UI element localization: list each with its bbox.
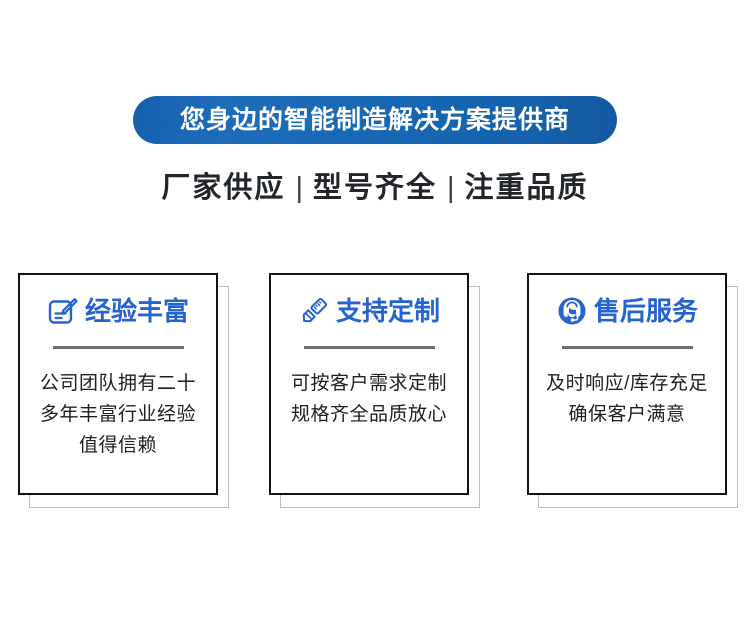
headline-banner: 您身边的智能制造解决方案提供商 <box>0 96 750 144</box>
subtitle-line: 厂家供应|型号齐全|注重品质 <box>0 164 750 206</box>
feature-cards-row: 经验丰富 公司团队拥有二十 多年丰富行业经验 值得信赖 <box>18 273 732 513</box>
card-divider <box>562 346 693 349</box>
card-title: 支持定制 <box>336 298 440 324</box>
banner-pill: 您身边的智能制造解决方案提供商 <box>133 96 617 144</box>
feature-card[interactable]: 支持定制 可按客户需求定制 规格齐全品质放心 <box>269 273 469 495</box>
card-body: 可按客户需求定制 规格齐全品质放心 <box>275 368 463 430</box>
feature-card-slot: 经验丰富 公司团队拥有二十 多年丰富行业经验 值得信赖 <box>18 273 218 495</box>
card-body: 及时响应/库存充足 确保客户满意 <box>533 368 721 430</box>
card-header: 支持定制 <box>298 294 440 328</box>
subtitle-separator-1: | <box>285 172 313 204</box>
feature-card[interactable]: 经验丰富 公司团队拥有二十 多年丰富行业经验 值得信赖 <box>18 273 218 495</box>
subtitle-separator-2: | <box>437 172 465 204</box>
card-header: 售后服务 <box>556 294 698 328</box>
card-body-line: 多年丰富行业经验 <box>24 399 212 430</box>
card-body-line: 及时响应/库存充足 <box>533 368 721 399</box>
feature-card[interactable]: 售后服务 及时响应/库存充足 确保客户满意 <box>527 273 727 495</box>
ruler-pencil-icon <box>298 295 330 327</box>
card-divider <box>53 346 184 349</box>
headset-support-icon <box>556 295 588 327</box>
card-title: 售后服务 <box>594 298 698 324</box>
card-title: 经验丰富 <box>85 298 189 324</box>
subtitle-part-2: 型号齐全 <box>313 172 437 204</box>
card-body-line: 可按客户需求定制 <box>275 368 463 399</box>
subtitle-part-1: 厂家供应 <box>161 172 285 204</box>
card-body-line: 值得信赖 <box>24 430 212 461</box>
card-header: 经验丰富 <box>47 294 189 328</box>
card-body-line: 确保客户满意 <box>533 399 721 430</box>
banner-text: 您身边的智能制造解决方案提供商 <box>180 108 570 133</box>
feature-card-slot: 支持定制 可按客户需求定制 规格齐全品质放心 <box>269 273 469 495</box>
subtitle-part-3: 注重品质 <box>465 172 589 204</box>
edit-document-icon <box>47 295 79 327</box>
card-body-line: 规格齐全品质放心 <box>275 399 463 430</box>
card-body-line: 公司团队拥有二十 <box>24 368 212 399</box>
card-body: 公司团队拥有二十 多年丰富行业经验 值得信赖 <box>24 368 212 461</box>
card-divider <box>304 346 435 349</box>
feature-card-slot: 售后服务 及时响应/库存充足 确保客户满意 <box>527 273 727 495</box>
